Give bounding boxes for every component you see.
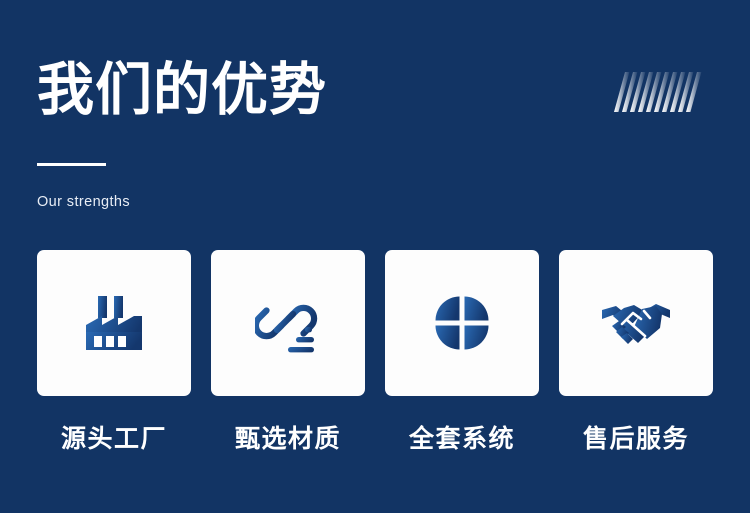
- card-surface-factory[interactable]: [37, 250, 191, 396]
- strengths-card-list: 源头工厂: [37, 250, 713, 455]
- diagonal-stripes-decoration: [606, 66, 706, 118]
- card-surface-after-sales[interactable]: [559, 250, 713, 396]
- factory-icon: [78, 290, 150, 356]
- strength-item-system[interactable]: 全套系统: [385, 250, 539, 455]
- strength-label: 全套系统: [409, 419, 515, 455]
- card-surface-materials[interactable]: [211, 250, 365, 396]
- strength-label: 甄选材质: [235, 419, 341, 455]
- strength-item-factory[interactable]: 源头工厂: [37, 250, 191, 455]
- title-divider: [37, 163, 106, 166]
- strength-item-materials[interactable]: 甄选材质: [211, 250, 365, 455]
- strength-item-after-sales[interactable]: 售后服务: [559, 250, 713, 455]
- page-title: 我们的优势: [37, 58, 597, 124]
- strength-label: 源头工厂: [61, 419, 167, 455]
- card-surface-system[interactable]: [385, 250, 539, 396]
- our-strengths-section: 我们的优势 Our strengths: [0, 0, 750, 513]
- strength-label: 售后服务: [583, 419, 689, 455]
- chain-link-icon: [252, 290, 324, 356]
- section-header: 我们的优势 Our strengths: [37, 58, 597, 210]
- handshake-icon: [600, 290, 672, 356]
- four-petal-clover-icon: [426, 290, 498, 356]
- section-subtitle: Our strengths: [37, 194, 597, 210]
